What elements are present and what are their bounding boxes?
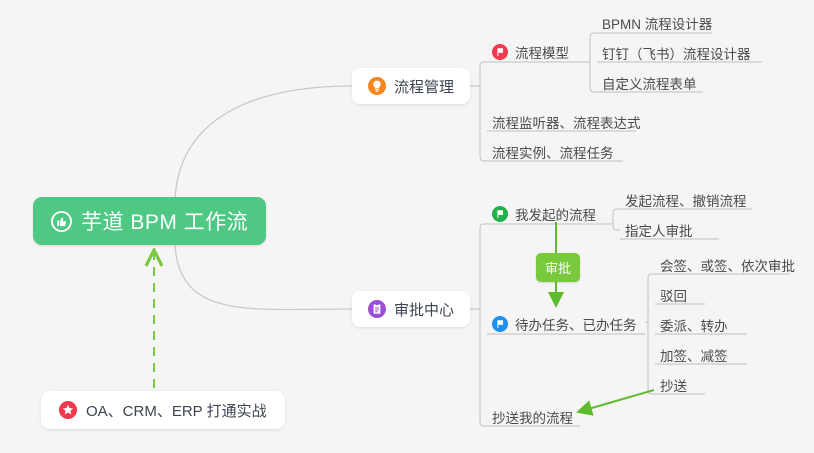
flag-icon [492,316,508,332]
lightbulb-icon [368,77,386,95]
leaf-countersign[interactable]: 会签、或签、依次审批 [660,255,795,278]
star-icon [59,401,77,419]
leaf-dingtalk-designer[interactable]: 钉钉（飞书）流程设计器 [602,43,751,66]
clipboard-icon [368,300,386,318]
leaf-delegate-transfer[interactable]: 委派、转办 [660,315,728,338]
connector-root-to-approval-center [175,245,352,310]
annotation-approval-tag[interactable]: 审批 [536,253,580,282]
leaf-designated-approval[interactable]: 指定人审批 [625,220,693,243]
leaf-listener-expression[interactable]: 流程监听器、流程表达式 [492,112,641,135]
connector-process-management-spine [480,62,487,161]
node-label-todo-done-tasks: 待办任务、已办任务 [515,314,637,334]
connector-approval-center-spine [480,224,487,426]
branch-label-approval-center: 审批中心 [394,299,454,320]
floating-node-integration-practice[interactable]: OA、CRM、ERP 打通实战 [41,391,285,429]
leaf-cc[interactable]: 抄送 [660,375,687,398]
leaf-cc-to-me[interactable]: 抄送我的流程 [492,407,573,430]
node-my-initiated[interactable]: 我发起的流程 [492,204,596,224]
connector-my-initiated-spine [613,209,620,230]
branch-node-process-management[interactable]: 流程管理 [352,68,470,104]
node-process-model[interactable]: 流程模型 [492,42,569,62]
node-label-my-initiated: 我发起的流程 [515,204,596,224]
leaf-reject[interactable]: 驳回 [660,285,687,308]
thumbs-up-icon [51,211,72,232]
flag-icon [492,44,508,60]
mindmap-canvas: 芋道 BPM 工作流 流程管理 流程模型 流程监听器、流程表达式 流程实例、流程… [0,0,814,453]
floating-node-label: OA、CRM、ERP 打通实战 [86,400,267,421]
node-todo-done-tasks[interactable]: 待办任务、已办任务 [492,314,637,334]
branch-node-approval-center[interactable]: 审批中心 [352,291,470,327]
leaf-add-remove-sign[interactable]: 加签、减签 [660,345,728,368]
connector-todo-done-spine [648,274,655,394]
connector-root-to-process-management [175,86,352,198]
leaf-bpmn-designer[interactable]: BPMN 流程设计器 [602,13,712,36]
root-node[interactable]: 芋道 BPM 工作流 [33,197,266,245]
connector-process-model-spine [590,33,597,92]
node-label-process-model: 流程模型 [515,42,569,62]
leaf-custom-form[interactable]: 自定义流程表单 [602,73,697,96]
branch-label-process-management: 流程管理 [394,76,454,97]
leaf-start-cancel-flow[interactable]: 发起流程、撤销流程 [625,190,747,213]
flag-icon [492,206,508,222]
root-label: 芋道 BPM 工作流 [81,206,248,236]
arrow-cc-to-my-flow [578,390,654,412]
leaf-instance-task[interactable]: 流程实例、流程任务 [492,142,614,165]
